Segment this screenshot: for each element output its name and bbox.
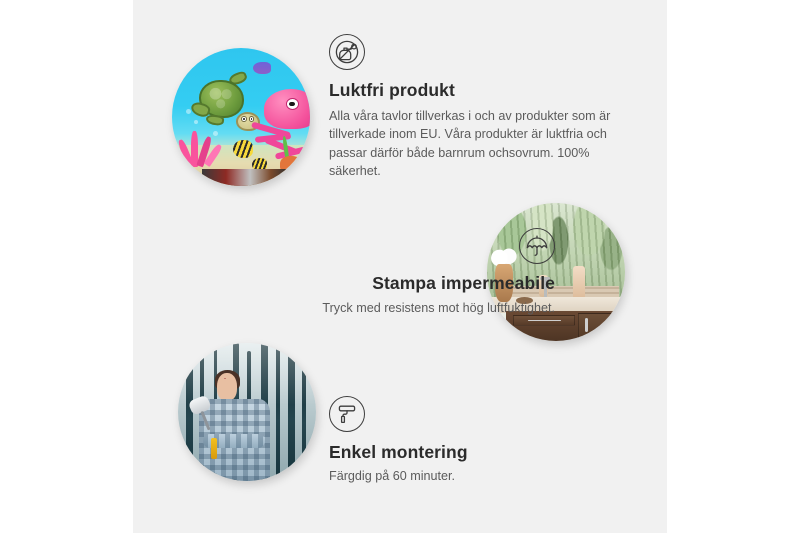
icon-wrap-odour-free	[329, 34, 629, 70]
feature-body: Tryck med resistens mot hög luftfuktighe…	[215, 299, 555, 317]
feature-body: Alla våra tavlor tillverkas i och av pro…	[329, 107, 614, 180]
no-odour-icon	[329, 34, 365, 70]
feature-block-waterproof-print: Stampa impermeabile Tryck med resistens …	[215, 228, 555, 317]
feature-title: Enkel montering	[329, 442, 629, 463]
icon-wrap-waterproof-print	[215, 228, 555, 264]
icon-wrap-easy-mounting	[329, 396, 629, 432]
feature-image-easy-mounting	[178, 343, 316, 481]
features-panel: Luktfri produkt Alla våra tavlor tillver…	[133, 0, 667, 533]
feature-title: Stampa impermeabile	[215, 273, 555, 294]
feature-image-odour-free	[172, 48, 310, 186]
right-margin	[667, 0, 800, 533]
umbrella-icon	[519, 228, 555, 264]
feature-block-odour-free: Luktfri produkt Alla våra tavlor tillver…	[329, 34, 629, 180]
left-margin	[0, 0, 133, 533]
feature-block-easy-mounting: Enkel montering Färgdig på 60 minuter.	[329, 396, 629, 485]
paint-roller-icon	[329, 396, 365, 432]
feature-body: Färgdig på 60 minuter.	[329, 467, 629, 485]
feature-title: Luktfri produkt	[329, 80, 629, 101]
